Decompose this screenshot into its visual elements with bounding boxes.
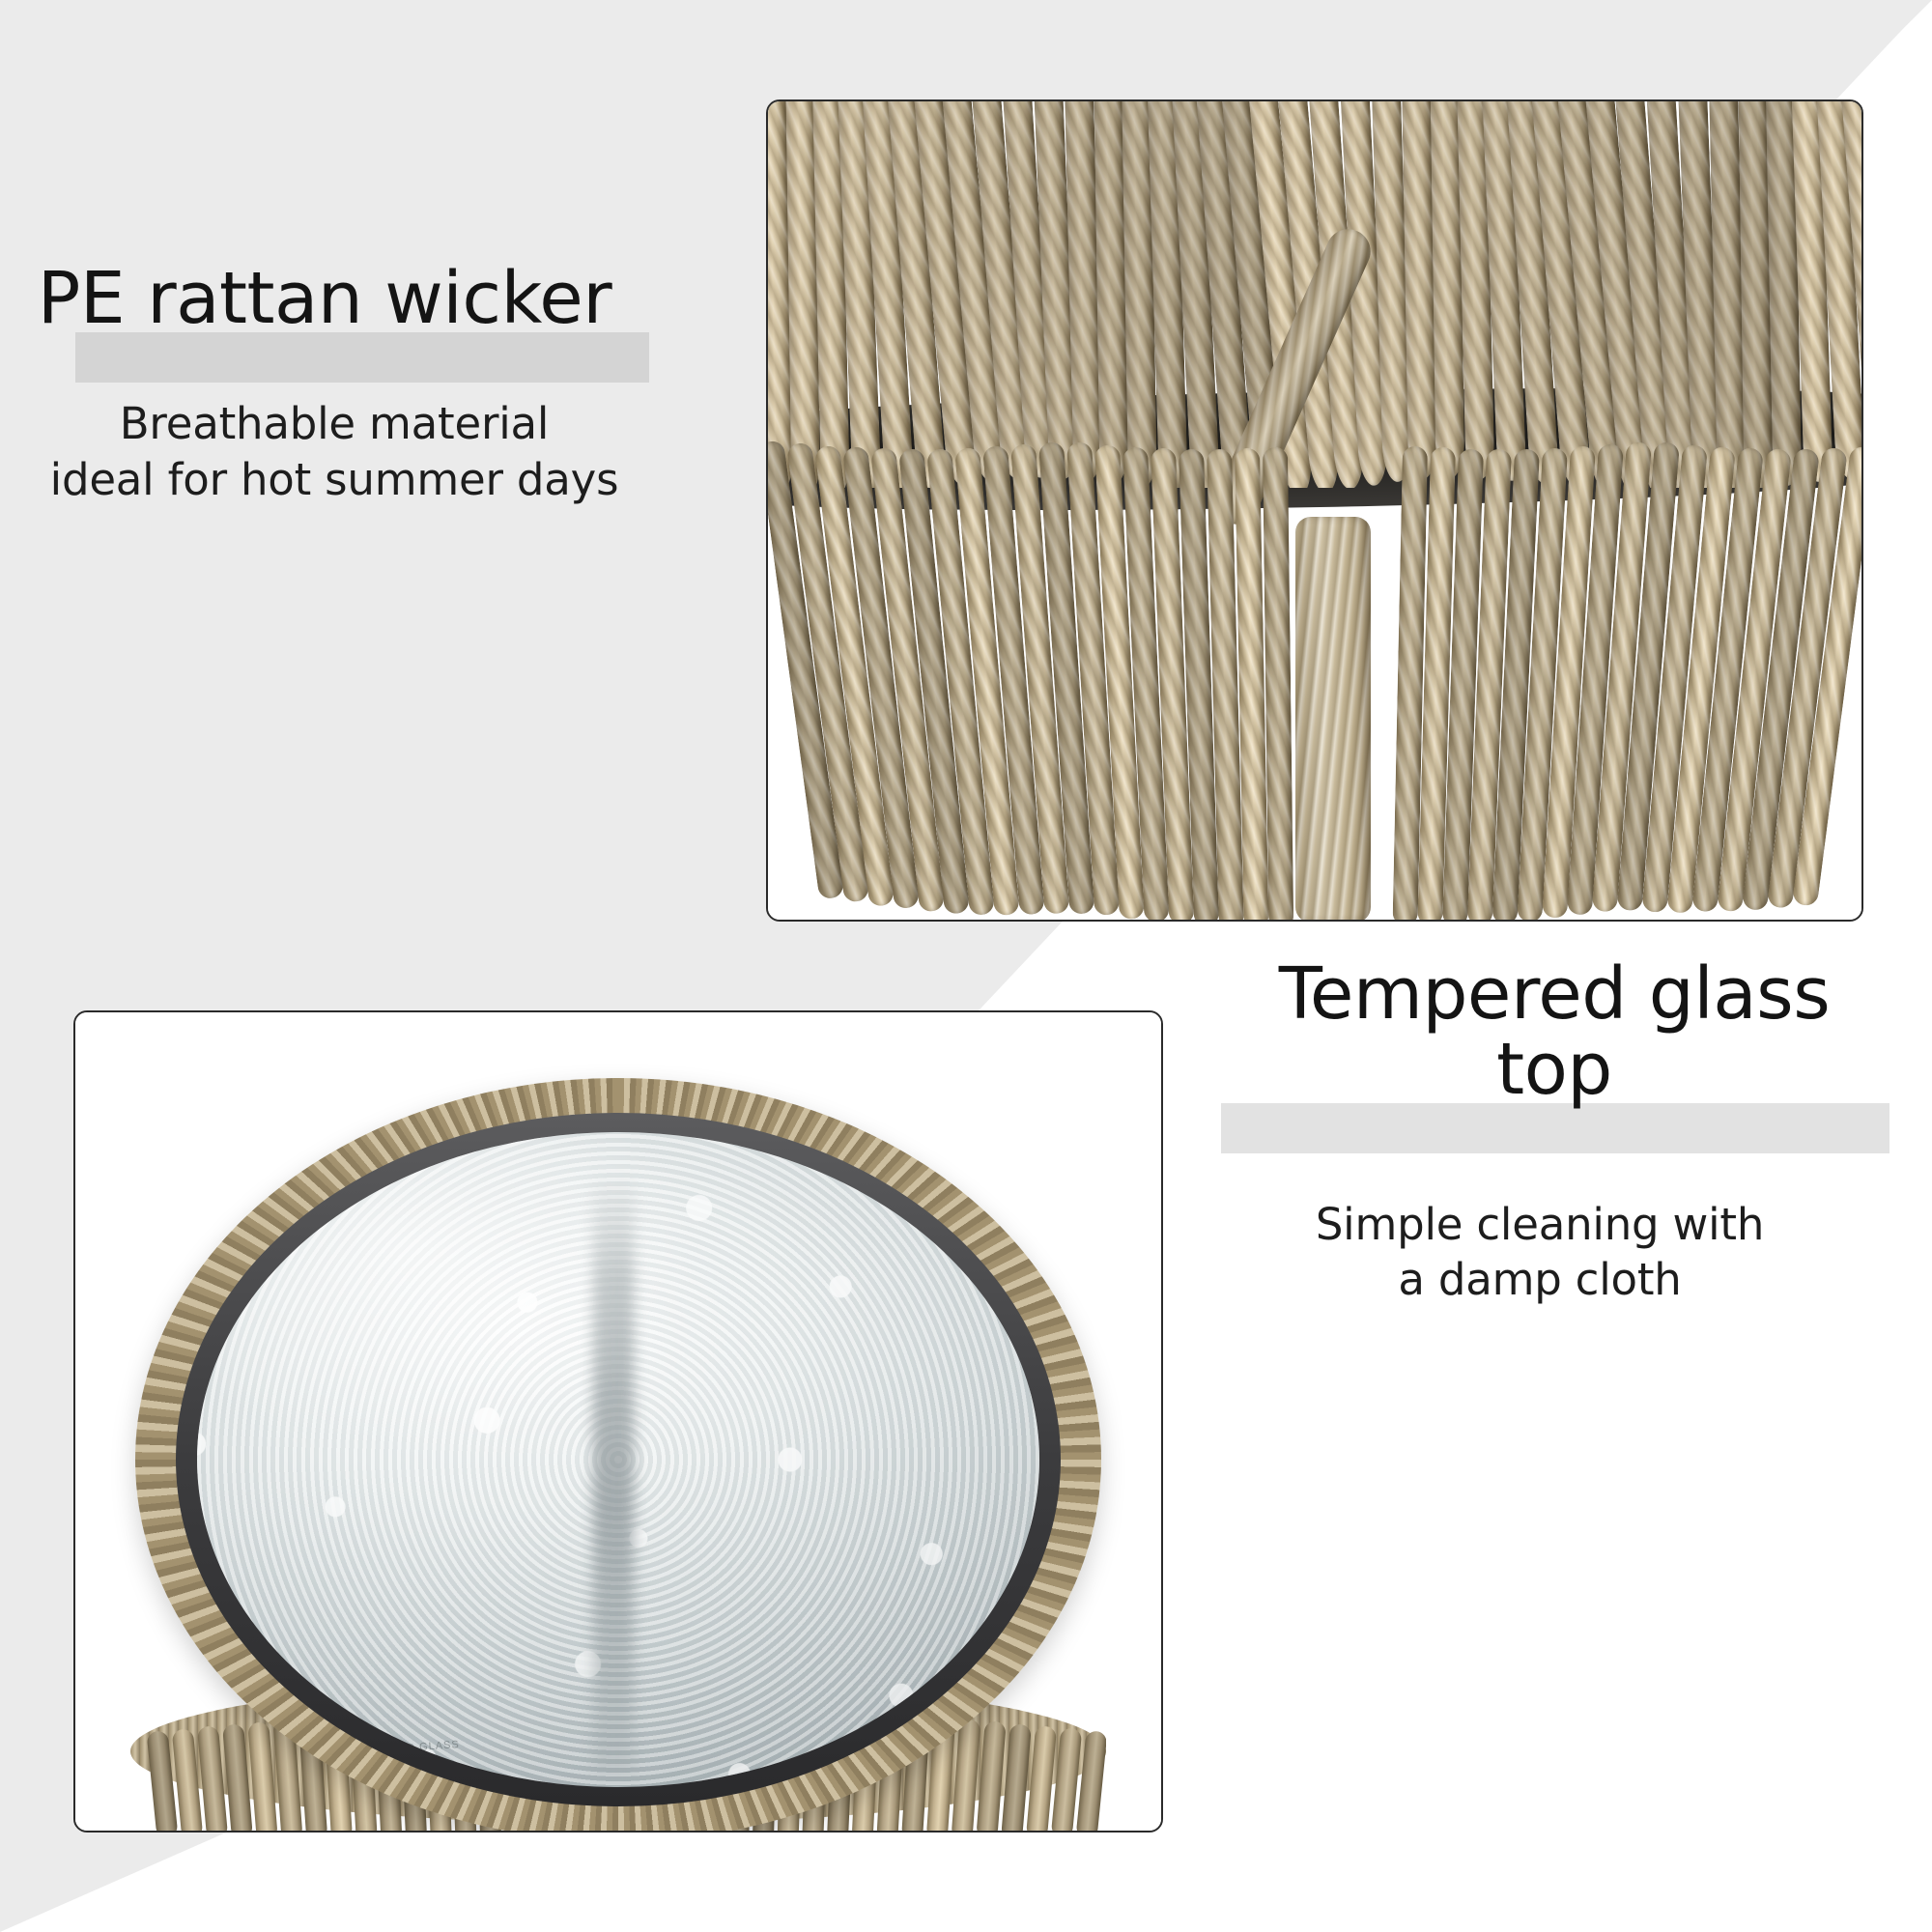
glass-table-scene: TEMPERED GLASS <box>75 1012 1161 1831</box>
wicker-rope-closeup-photo <box>766 99 1863 922</box>
feature-title-line-2: top <box>1496 1028 1612 1111</box>
feature-subtitle-line-2: a damp cloth <box>1398 1254 1681 1305</box>
glass-sheen-highlight <box>197 1132 702 1446</box>
feature-title: PE rattan wicker <box>0 261 649 336</box>
feature-title-wrapper: PE rattan wicker <box>0 261 649 336</box>
tempered-glass-surface: TEMPERED GLASS <box>197 1132 1039 1787</box>
feature-block-tempered-glass-top: Tempered glass top Simple cleaning with … <box>1177 956 1932 1308</box>
table-wicker-rim: TEMPERED GLASS <box>135 1078 1101 1831</box>
feature-subtitle-line-1: Simple cleaning with <box>1316 1199 1764 1250</box>
feature-title-wrapper: Tempered glass top <box>1177 956 1932 1108</box>
feature-title: Tempered glass top <box>1177 956 1932 1108</box>
tempered-glass-table-top-photo: TEMPERED GLASS <box>73 1010 1163 1833</box>
wicker-vertical-strand <box>1263 447 1293 920</box>
feature-subtitle: Breathable material ideal for hot summer… <box>0 396 649 507</box>
feature-subtitle-line-2: ideal for hot summer days <box>50 454 619 505</box>
wicker-scene <box>768 101 1861 920</box>
feature-title-line-1: Tempered glass <box>1279 952 1831 1036</box>
feature-subtitle-line-1: Breathable material <box>120 398 549 449</box>
table-metal-frame-ring: TEMPERED GLASS <box>176 1113 1061 1806</box>
feature-block-pe-rattan-wicker: PE rattan wicker Breathable material ide… <box>0 261 649 508</box>
feature-subtitle: Simple cleaning with a damp cloth <box>1177 1197 1932 1308</box>
infographic-canvas: PE rattan wicker Breathable material ide… <box>0 0 1932 1932</box>
wicker-frayed-post <box>1295 517 1371 920</box>
